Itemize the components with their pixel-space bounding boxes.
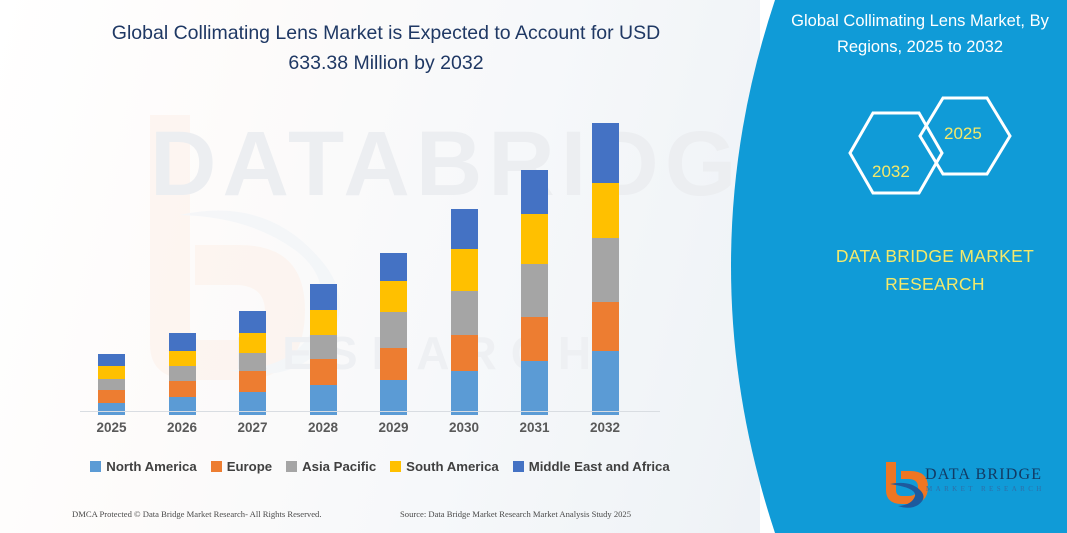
brand-line-2: RESEARCH [885, 274, 985, 294]
bar-2029[interactable] [380, 253, 407, 415]
bar-segment [169, 333, 196, 351]
x-axis-label-2026: 2026 [152, 420, 212, 435]
bar-segment [592, 302, 619, 351]
brand-line-1: DATA BRIDGE MARKET [836, 246, 1034, 266]
bar-segment [239, 353, 266, 372]
year-hexagons: 2032 2025 [820, 96, 1050, 206]
legend-item[interactable]: South America [390, 459, 499, 474]
legend-label: North America [106, 459, 196, 474]
bar-segment [521, 214, 548, 264]
x-axis-label-2025: 2025 [82, 420, 142, 435]
bar-segment [169, 381, 196, 398]
x-axis-label-2028: 2028 [293, 420, 353, 435]
hexagon-outline-icon [820, 96, 1050, 206]
bar-segment [98, 379, 125, 390]
bar-segment [592, 123, 619, 183]
bar-segment [521, 264, 548, 317]
legend-label: Asia Pacific [302, 459, 376, 474]
stacked-bar-chart [80, 100, 680, 415]
legend-swatch-icon [390, 461, 401, 472]
bar-2025[interactable] [98, 354, 125, 415]
chart-legend: North AmericaEuropeAsia PacificSouth Ame… [80, 455, 680, 477]
x-axis-label-2029: 2029 [364, 420, 424, 435]
bar-segment [380, 312, 407, 347]
bar-segment [169, 366, 196, 381]
chart-axis-line [80, 411, 660, 412]
chart-panel: DATABRIDGE RESEARCH Global Collimating L… [0, 0, 760, 533]
infographic-root: DATABRIDGE RESEARCH Global Collimating L… [0, 0, 1067, 533]
bar-segment [380, 348, 407, 380]
legend-item[interactable]: Europe [211, 459, 272, 474]
bar-2031[interactable] [521, 170, 548, 415]
bar-segment [98, 354, 125, 366]
hexagon-label-2032: 2032 [872, 162, 910, 182]
bar-2027[interactable] [239, 311, 266, 415]
bar-segment [521, 361, 548, 415]
logo-wordmark: DATA BRIDGE [925, 466, 1042, 484]
x-axis-label-2031: 2031 [505, 420, 565, 435]
legend-label: South America [406, 459, 499, 474]
legend-label: Europe [227, 459, 272, 474]
bar-2032[interactable] [592, 123, 619, 415]
logo-tagline: MARKET RESEARCH [926, 485, 1045, 493]
legend-item[interactable]: Middle East and Africa [513, 459, 670, 474]
bar-segment [451, 209, 478, 249]
legend-swatch-icon [211, 461, 222, 472]
bar-segment [310, 335, 337, 359]
legend-label: Middle East and Africa [529, 459, 670, 474]
brand-panel-title: Global Collimating Lens Market, By Regio… [790, 8, 1050, 60]
bar-segment [521, 170, 548, 214]
chart-title: Global Collimating Lens Market is Expect… [86, 18, 686, 78]
legend-item[interactable]: Asia Pacific [286, 459, 376, 474]
bar-segment [169, 351, 196, 367]
bar-segment [451, 291, 478, 336]
bar-segment [592, 351, 619, 415]
x-axis-labels: 20252026202720282029203020312032 [80, 420, 680, 444]
bar-segment [310, 284, 337, 310]
bar-segment [239, 311, 266, 333]
bar-segment [592, 238, 619, 302]
bar-segment [380, 253, 407, 281]
bar-segment [310, 310, 337, 335]
bar-segment [451, 371, 478, 415]
bar-2028[interactable] [310, 284, 337, 415]
footer-copyright: DMCA Protected © Data Bridge Market Rese… [72, 509, 322, 519]
bar-segment [451, 335, 478, 371]
bar-segment [592, 183, 619, 238]
legend-swatch-icon [90, 461, 101, 472]
x-axis-label-2032: 2032 [575, 420, 635, 435]
bar-segment [310, 359, 337, 385]
bar-segment [380, 281, 407, 312]
bar-segment [98, 390, 125, 402]
bar-segment [521, 317, 548, 362]
legend-item[interactable]: North America [90, 459, 196, 474]
bar-segment [451, 249, 478, 290]
legend-swatch-icon [286, 461, 297, 472]
legend-swatch-icon [513, 461, 524, 472]
bar-segment [239, 333, 266, 353]
bar-segment [98, 366, 125, 378]
bar-segment [239, 371, 266, 392]
x-axis-label-2030: 2030 [434, 420, 494, 435]
bar-2026[interactable] [169, 333, 196, 415]
bar-2030[interactable] [451, 209, 478, 415]
hexagon-label-2025: 2025 [944, 124, 982, 144]
bar-segment [380, 380, 407, 415]
brand-name: DATA BRIDGE MARKET RESEARCH [800, 242, 1067, 298]
bar-segment [98, 403, 125, 415]
footer-source: Source: Data Bridge Market Research Mark… [400, 509, 631, 519]
data-bridge-logo: DATA BRIDGE MARKET RESEARCH [880, 460, 1055, 508]
x-axis-label-2027: 2027 [223, 420, 283, 435]
